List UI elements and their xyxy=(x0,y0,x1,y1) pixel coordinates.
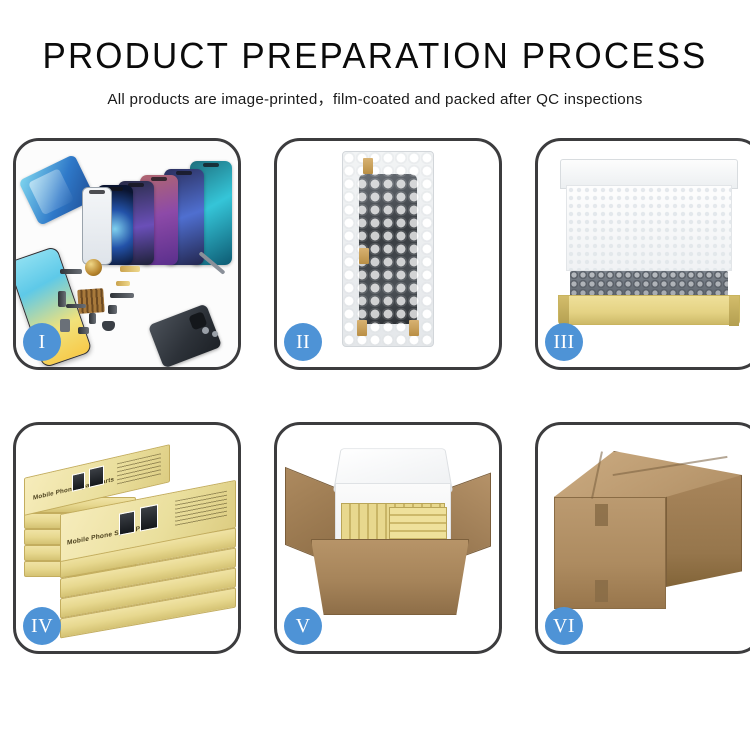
carton-tape-tab xyxy=(595,580,608,602)
phone-notch-icon xyxy=(176,171,192,175)
spare-part xyxy=(102,321,115,331)
process-step-panel-3[interactable]: III xyxy=(535,138,750,370)
spare-part xyxy=(120,266,140,272)
page-header: PRODUCT PREPARATION PROCESS All products… xyxy=(0,0,750,109)
phone-notch-icon xyxy=(203,163,219,167)
tray-side-right xyxy=(729,296,739,326)
process-step-panel-6[interactable]: VI xyxy=(535,422,750,654)
step-badge-5: V xyxy=(284,607,322,645)
outer-carton-body xyxy=(311,539,469,615)
phone-back-housing xyxy=(148,303,222,367)
box-print-phone-image xyxy=(119,511,135,536)
process-step-panel-5[interactable]: V xyxy=(274,422,502,654)
phone-lineup xyxy=(82,155,232,265)
box-print-phone-image xyxy=(140,504,158,531)
screw xyxy=(212,331,218,337)
spare-part xyxy=(60,269,82,274)
tempered-glass-panel xyxy=(82,187,112,265)
process-step-panel-2[interactable]: II xyxy=(274,138,502,370)
screw xyxy=(202,327,209,334)
box-print-phone-image xyxy=(72,472,85,492)
spare-part xyxy=(110,293,134,298)
spare-part xyxy=(89,313,96,324)
step-badge-1: I xyxy=(23,323,61,361)
box-print-phone-image xyxy=(89,465,104,487)
spare-part xyxy=(116,281,130,286)
step-badge-3: III xyxy=(545,323,583,361)
tape-strip xyxy=(409,320,419,336)
phone-notch-icon xyxy=(89,190,105,194)
tape-strip xyxy=(359,248,369,264)
yellow-box-tray xyxy=(558,295,740,325)
tape-strip xyxy=(363,158,373,174)
tape-strip xyxy=(357,320,367,336)
bubble-texture xyxy=(343,152,433,346)
spare-part xyxy=(58,291,66,307)
carton-tape-tab xyxy=(595,504,608,526)
spare-part xyxy=(108,305,117,314)
step-badge-6: VI xyxy=(545,607,583,645)
process-step-panel-1[interactable]: I xyxy=(13,138,241,370)
step-badge-4: IV xyxy=(23,607,61,645)
spare-part xyxy=(60,319,70,332)
phone-notch-icon xyxy=(151,177,167,181)
step-badge-2: II xyxy=(284,323,322,361)
process-steps-grid: I II III xyxy=(0,138,750,654)
bubble-wrap-bag xyxy=(342,151,434,347)
carton-front-face xyxy=(554,497,666,609)
spare-part xyxy=(78,327,89,334)
foam-sheet xyxy=(566,185,732,271)
spare-part xyxy=(66,304,86,308)
page-title: PRODUCT PREPARATION PROCESS xyxy=(11,38,739,74)
page-subtitle: All products are image-printed，film-coat… xyxy=(0,87,750,109)
wireless-charging-coil xyxy=(85,259,102,276)
box-stack: Mobile Phone Spare Parts Mobile Phone Sp… xyxy=(22,447,238,637)
connector-grid-chip xyxy=(77,288,105,314)
process-step-panel-4[interactable]: Mobile Phone Spare Parts Mobile Phone Sp… xyxy=(13,422,241,654)
tray-side-left xyxy=(559,296,569,326)
